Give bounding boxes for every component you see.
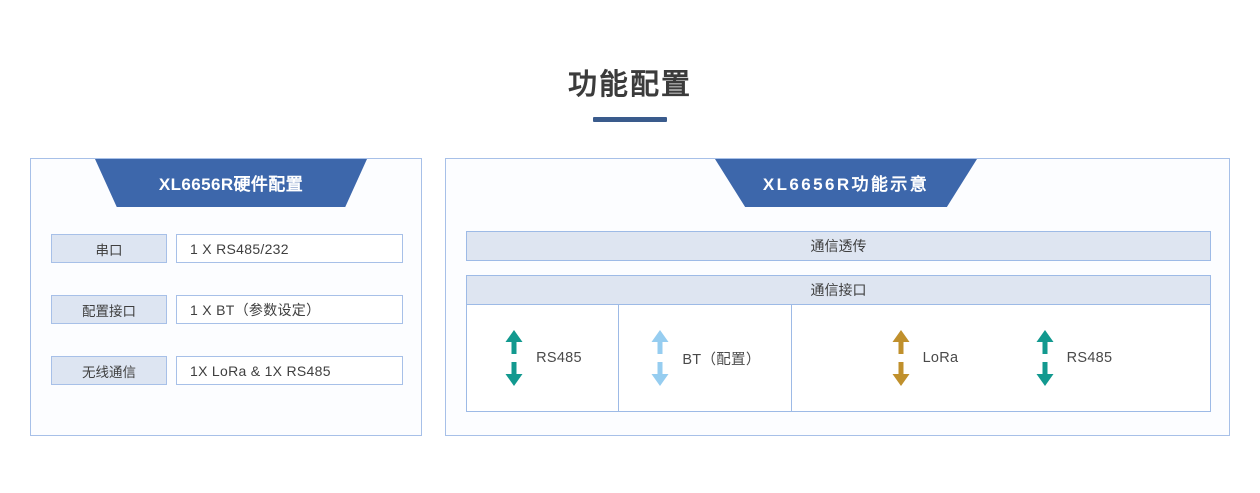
bar-spacer — [466, 261, 1211, 275]
page-root: 功能配置 XL6656R硬件配置 串口 1 X RS485/232 配置接口 1… — [0, 0, 1260, 493]
interface-column-bt: BT（配置） — [619, 305, 792, 411]
hardware-config-panel: XL6656R硬件配置 串口 1 X RS485/232 配置接口 1 X BT… — [30, 158, 422, 436]
row-key: 无线通信 — [51, 356, 167, 385]
double-arrow-icon — [649, 329, 671, 387]
row-key: 配置接口 — [51, 295, 167, 324]
double-arrow-icon — [1034, 329, 1056, 387]
signal-label: RS485 — [1067, 350, 1113, 366]
function-diagram-banner: XL6656R功能示意 — [715, 159, 977, 207]
signal-lora: LoRa — [890, 329, 959, 387]
transparent-transmission-bar: 通信透传 — [466, 231, 1211, 261]
page-header: 功能配置 — [0, 66, 1260, 122]
signal-bt: BT（配置） — [649, 329, 760, 387]
hardware-config-banner-label: XL6656R硬件配置 — [159, 170, 303, 197]
row-value: 1 X BT（参数设定） — [176, 295, 403, 324]
table-row: 无线通信 1X LoRa & 1X RS485 — [51, 356, 403, 385]
signal-label: RS485 — [536, 350, 582, 366]
page-title: 功能配置 — [0, 66, 1260, 104]
signal-rs485-wireless: RS485 — [1034, 329, 1113, 387]
interface-column-wireless: LoRa RS485 — [792, 305, 1210, 411]
function-diagram-banner-label: XL6656R功能示意 — [763, 170, 929, 197]
row-value: 1X LoRa & 1X RS485 — [176, 356, 403, 385]
double-arrow-icon — [503, 329, 525, 387]
row-key: 串口 — [51, 234, 167, 263]
row-value: 1 X RS485/232 — [176, 234, 403, 263]
signal-label: BT（配置） — [682, 348, 760, 369]
interface-bar: 通信接口 — [466, 275, 1211, 305]
table-row: 串口 1 X RS485/232 — [51, 234, 403, 263]
interface-row: RS485 BT（配置） — [467, 305, 1210, 411]
interface-columns: RS485 BT（配置） — [466, 305, 1211, 412]
hardware-config-table: 串口 1 X RS485/232 配置接口 1 X BT（参数设定） 无线通信 … — [51, 234, 403, 385]
double-arrow-icon — [890, 329, 912, 387]
function-diagram-panel: XL6656R功能示意 通信透传 通信接口 — [445, 158, 1230, 436]
title-underline — [593, 117, 667, 122]
table-row: 配置接口 1 X BT（参数设定） — [51, 295, 403, 324]
signal-rs485-serial: RS485 — [503, 329, 582, 387]
signal-label: LoRa — [923, 350, 959, 366]
hardware-config-banner: XL6656R硬件配置 — [95, 159, 367, 207]
function-diagram-content: 通信透传 通信接口 RS485 — [466, 231, 1211, 412]
interface-column-serial: RS485 — [467, 305, 619, 411]
